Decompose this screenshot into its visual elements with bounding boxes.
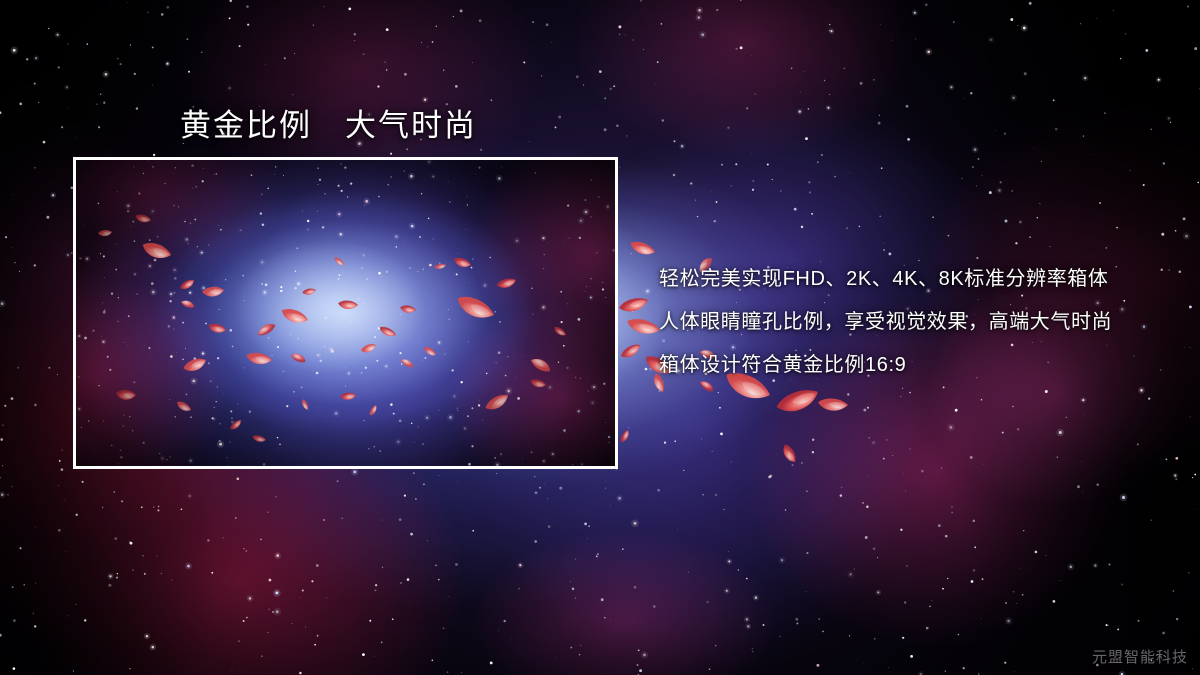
description-line-2: 人体眼睛瞳孔比例，享受视觉效果，高端大气时尚: [659, 301, 1112, 344]
page-title: 黄金比例 大气时尚: [180, 100, 477, 145]
description-line-1: 轻松完美实现FHD、2K、4K、8K标准分辨率箱体: [659, 258, 1112, 301]
framed-image-16x9: [73, 157, 618, 469]
frame-inner-content: [76, 160, 615, 466]
description-line-3: 箱体设计符合黄金比例16:9: [659, 344, 1112, 387]
watermark-label: 元盟智能科技: [1092, 646, 1188, 667]
description-text-block: 轻松完美实现FHD、2K、4K、8K标准分辨率箱体 人体眼睛瞳孔比例，享受视觉效…: [659, 258, 1112, 387]
presentation-slide: 黄金比例 大气时尚 轻松完美实现FHD、2K、4K、8K标准分辨率箱体 人体眼睛…: [0, 0, 1200, 675]
frame-vignette: [76, 160, 615, 466]
